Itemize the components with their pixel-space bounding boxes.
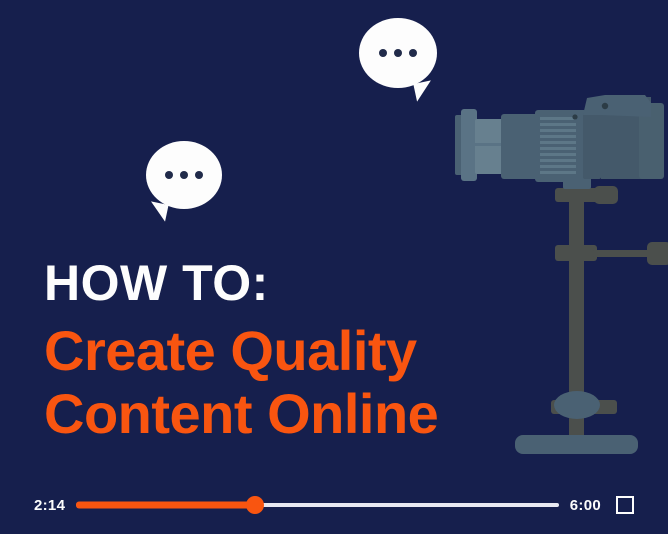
- ellipsis-dot: [394, 49, 402, 57]
- speech-bubble-dots: [359, 18, 437, 88]
- lens-front-seam: [475, 143, 505, 146]
- lens-front-barrel: [475, 119, 505, 174]
- tripod-pan-grip: [647, 242, 668, 265]
- tripod-lower-collar: [554, 391, 600, 419]
- lens-hood: [461, 109, 477, 181]
- tripod-upper-lock: [555, 188, 600, 202]
- ellipsis-dot: [165, 171, 173, 179]
- lens-barrel: [501, 114, 539, 179]
- tripod-pan-rod: [591, 250, 651, 257]
- shutter-button: [602, 103, 608, 109]
- fullscreen-icon[interactable]: [616, 496, 634, 514]
- lens-mount-collar: [583, 113, 601, 179]
- total-time-label: 6:00: [570, 497, 601, 514]
- speech-bubble-top: [359, 18, 437, 88]
- viewfinder-hump: [583, 95, 651, 117]
- tripod-group: [515, 180, 668, 454]
- progress-fill: [76, 502, 255, 509]
- tripod-pan-arm: [555, 245, 597, 261]
- video-player: HOW TO: Create Quality Content Online 2:…: [0, 0, 668, 534]
- tripod-upper-knob: [594, 186, 618, 204]
- camera-group: [455, 95, 664, 189]
- lens-release-button: [572, 114, 577, 119]
- current-time-label: 2:14: [34, 497, 65, 514]
- player-control-bar: 2:14 6:00: [0, 476, 668, 534]
- speech-bubble-dots: [146, 141, 222, 209]
- tripod-base-plate: [515, 435, 638, 454]
- progress-slider[interactable]: [76, 496, 559, 514]
- ellipsis-dot: [180, 171, 188, 179]
- headline-block: HOW TO: Create Quality Content Online: [44, 258, 514, 445]
- ellipsis-dot: [409, 49, 417, 57]
- fullscreen-corner-br: [624, 504, 634, 514]
- headline-line-2: Content Online: [44, 383, 514, 446]
- ellipsis-dot: [195, 171, 203, 179]
- ellipsis-dot: [379, 49, 387, 57]
- headline-line-1: Create Quality: [44, 320, 514, 383]
- speech-bubble-left: [146, 141, 222, 209]
- headline-kicker: HOW TO:: [44, 258, 514, 308]
- progress-thumb[interactable]: [246, 496, 264, 514]
